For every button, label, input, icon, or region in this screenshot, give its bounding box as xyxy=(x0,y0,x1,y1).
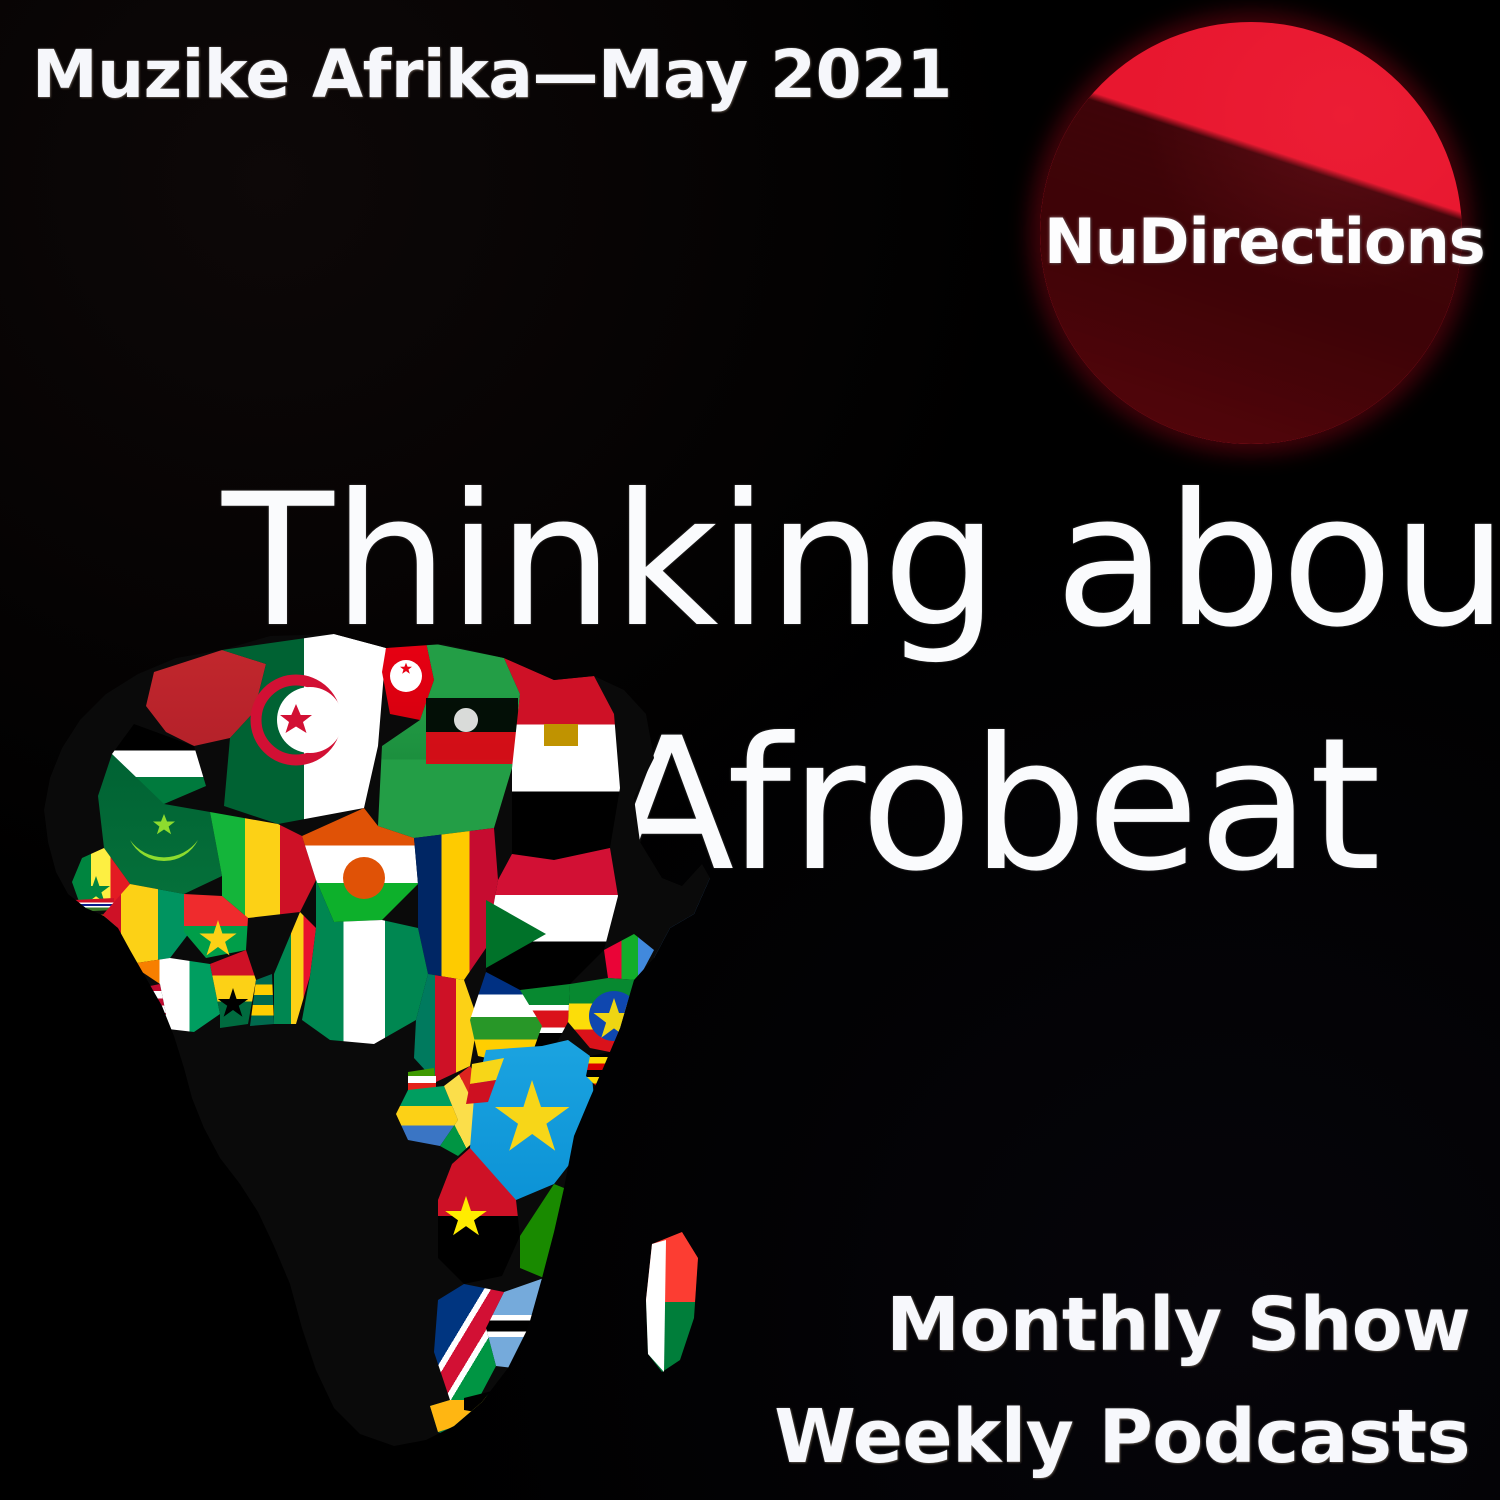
footer-weekly-podcasts: Weekly Podcasts xyxy=(774,1394,1470,1480)
africa-flag-map xyxy=(34,628,724,1468)
show-kicker: Muzike Afrika—May 2021 xyxy=(32,36,952,113)
cover-title-line-1: Thinking about xyxy=(222,470,1500,653)
nudirections-logo: NuDirections xyxy=(1040,22,1462,444)
map-flag-mosaic xyxy=(34,628,724,1468)
africa-flag-map-icon xyxy=(34,628,724,1468)
madagascar-island xyxy=(646,1232,698,1372)
logo-label: NuDirections xyxy=(1044,205,1462,278)
podcast-cover-art: Muzike Afrika—May 2021 NuDirections Thin… xyxy=(0,0,1500,1500)
cover-title-line-2: Afrobeat xyxy=(609,714,1380,897)
footer-monthly-show: Monthly Show xyxy=(886,1282,1470,1368)
